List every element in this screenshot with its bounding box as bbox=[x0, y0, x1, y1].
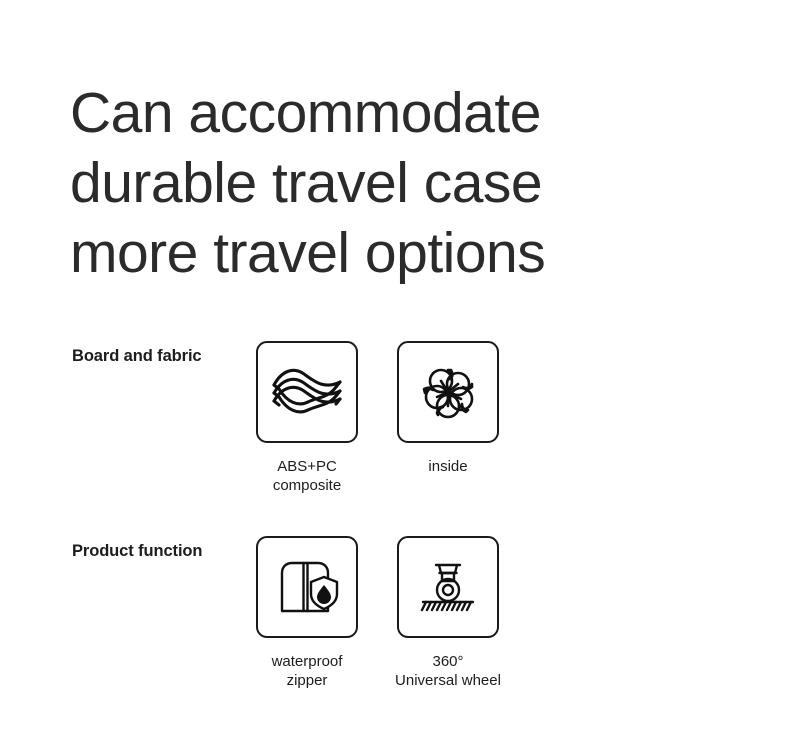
feature-card-caption: waterproof zipper bbox=[227, 652, 387, 690]
page-headline: Can accommodate durable travel case more… bbox=[70, 78, 730, 288]
universal-wheel-icon bbox=[414, 557, 482, 617]
feature-card-list: ABS+PC composite bbox=[256, 341, 499, 495]
feature-row-board-and-fabric: Board and fabric bbox=[0, 341, 790, 501]
feature-card-caption: 360° Universal wheel bbox=[368, 652, 528, 690]
feature-row-product-function: Product function wate bbox=[0, 536, 790, 696]
feature-row-label: Product function bbox=[72, 542, 202, 561]
feature-card-list: waterproof zipper bbox=[256, 536, 499, 690]
cotton-boll-icon bbox=[417, 361, 479, 423]
icon-box bbox=[256, 341, 358, 443]
icon-box bbox=[397, 536, 499, 638]
icon-box bbox=[397, 341, 499, 443]
feature-card-waterproof-zipper[interactable]: waterproof zipper bbox=[256, 536, 358, 690]
feature-row-label: Board and fabric bbox=[72, 347, 202, 366]
feature-card-abs-pc-composite[interactable]: ABS+PC composite bbox=[256, 341, 358, 495]
feature-card-caption: ABS+PC composite bbox=[227, 457, 387, 495]
waterproof-zipper-icon bbox=[274, 556, 340, 618]
feature-card-inside[interactable]: inside bbox=[397, 341, 499, 495]
wavy-layers-icon bbox=[270, 364, 344, 420]
feature-card-universal-wheel[interactable]: 360° Universal wheel bbox=[397, 536, 499, 690]
icon-box bbox=[256, 536, 358, 638]
feature-card-caption: inside bbox=[368, 457, 528, 476]
